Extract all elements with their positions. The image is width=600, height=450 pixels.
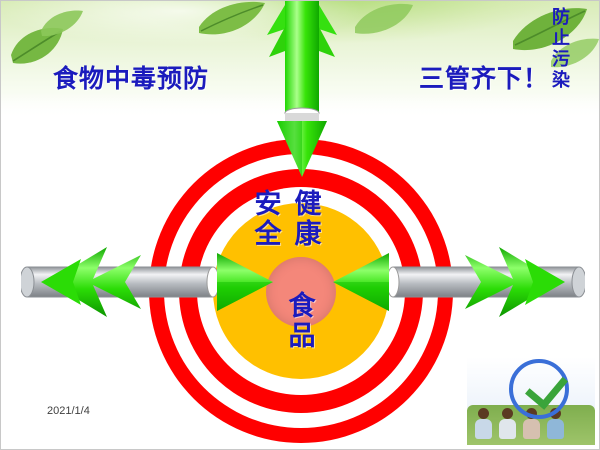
slide-canvas: 食物中毒预防 三管齐下！ 安 全 健 康 食 品 [0, 0, 600, 450]
person-2 [499, 408, 516, 439]
page-title-right: 三管齐下！ [419, 59, 549, 95]
arrow-left: 控制细菌繁殖 [21, 229, 281, 344]
leaf-icon-center2 [353, 3, 415, 37]
page-title-left: 食物中毒预防 [53, 59, 209, 95]
person-1 [475, 408, 492, 439]
arrow-top-label: 防 止 污 染 [550, 7, 572, 91]
center-text-shipin: 食 品 [287, 291, 317, 351]
family-photo [467, 357, 595, 445]
slide-date: 2021/1/4 [47, 405, 90, 417]
center-text-jiankang: 健 康 [293, 189, 323, 249]
leaf-icon-left2 [39, 9, 85, 39]
leaf-icon-center [197, 1, 267, 41]
arrow-right: 杀灭细菌 [323, 229, 585, 344]
arrow-top: 防 止 污 染 [263, 1, 339, 186]
